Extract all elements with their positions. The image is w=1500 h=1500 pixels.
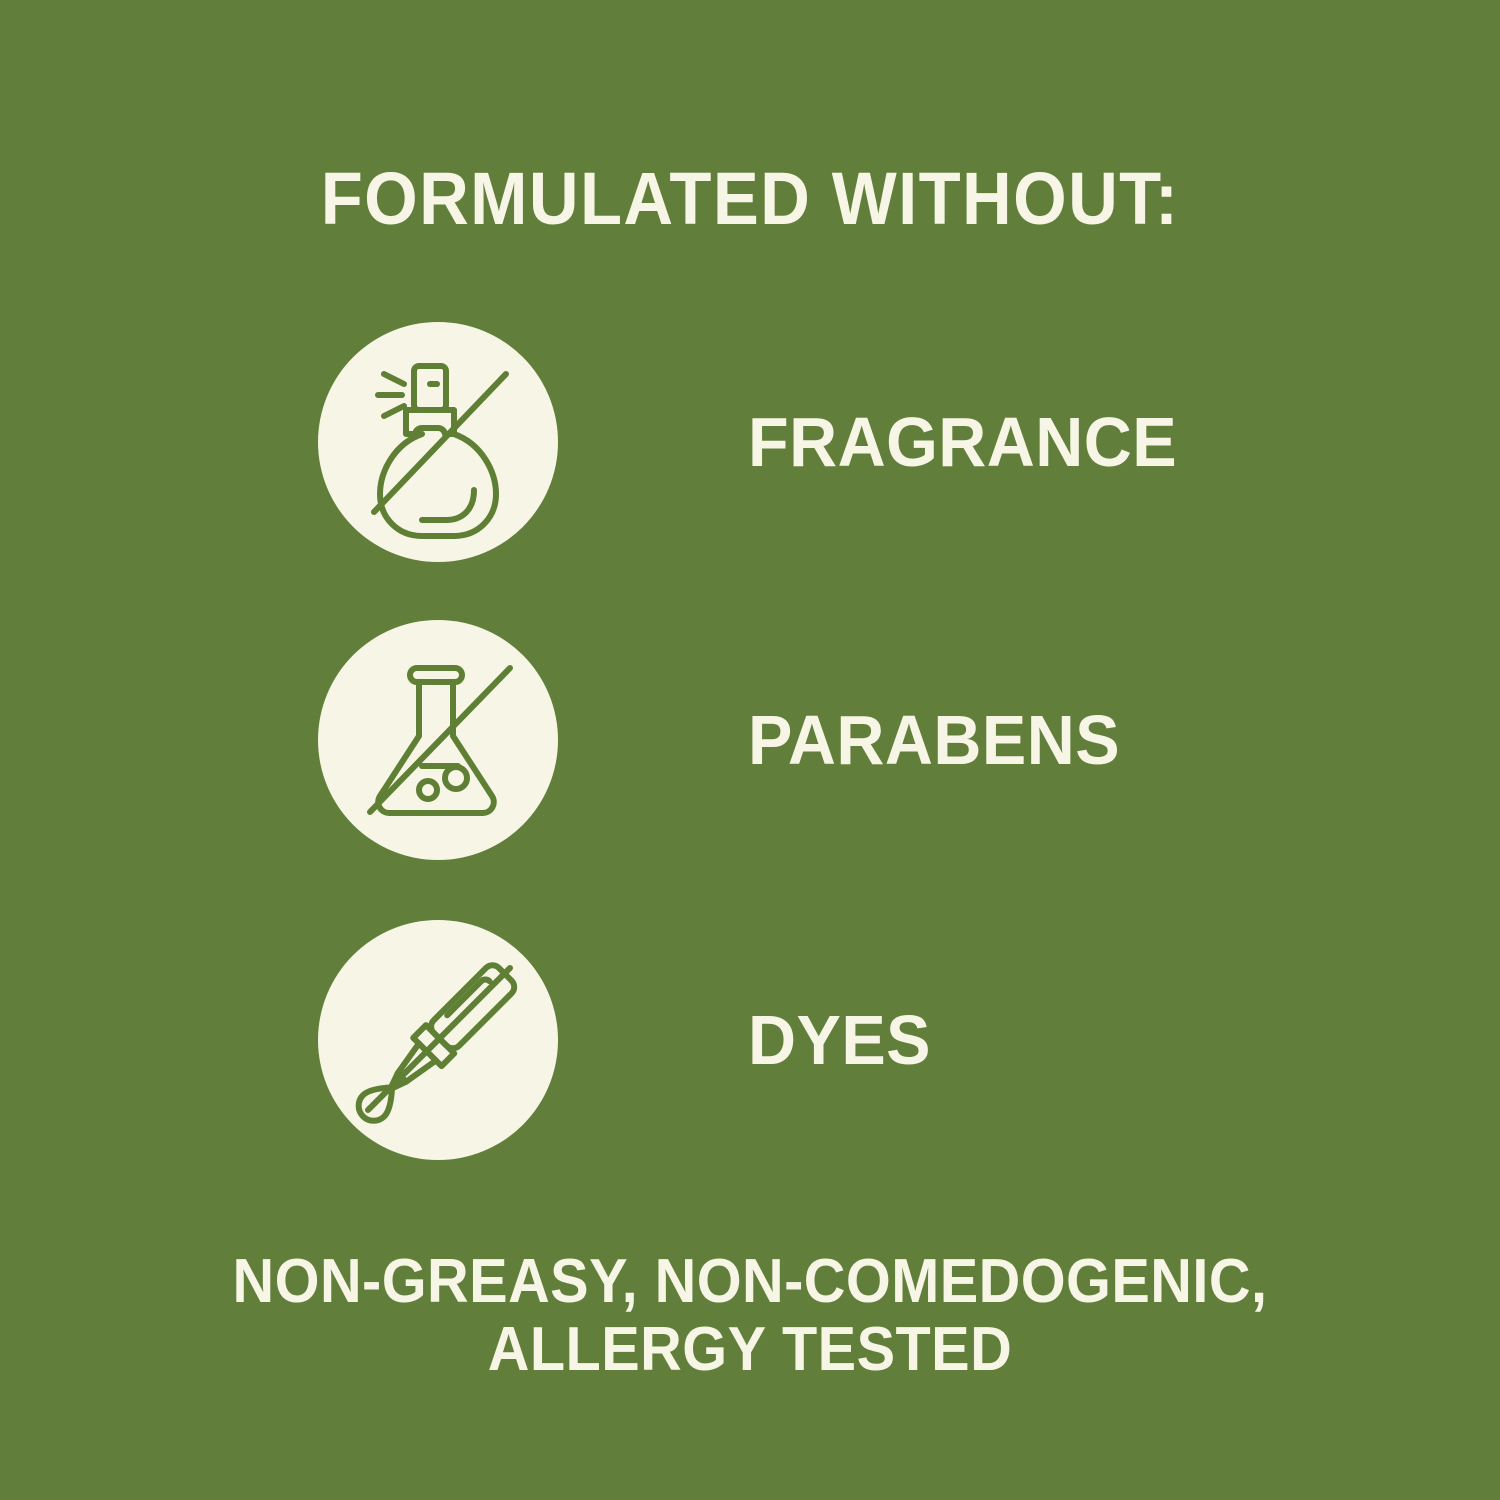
list-item: PARABENS <box>318 620 1318 860</box>
slash-line <box>368 968 510 1110</box>
page-title: FORMULATED WITHOUT: <box>53 158 1448 240</box>
list-item-label: FRAGRANCE <box>748 405 1177 479</box>
list-item: DYES <box>318 920 1318 1160</box>
footer-line-2: ALLERGY TESTED <box>53 1316 1448 1384</box>
footer-claims: NON-GREASY, NON-COMEDOGENIC, ALLERGY TES… <box>53 1248 1448 1384</box>
formulated-without-card: FORMULATED WITHOUT: <box>0 0 1500 1500</box>
no-dropper-icon <box>318 920 558 1160</box>
list-item: FRAGRANCE <box>318 322 1318 562</box>
no-dyes-badge <box>318 920 558 1160</box>
no-perfume-bottle-icon <box>318 322 558 562</box>
no-parabens-badge <box>318 620 558 860</box>
list-item-label: PARABENS <box>748 703 1120 777</box>
no-fragrance-badge <box>318 322 558 562</box>
list-item-label: DYES <box>748 1003 931 1077</box>
no-flask-icon <box>318 620 558 860</box>
footer-line-1: NON-GREASY, NON-COMEDOGENIC, <box>53 1248 1448 1316</box>
